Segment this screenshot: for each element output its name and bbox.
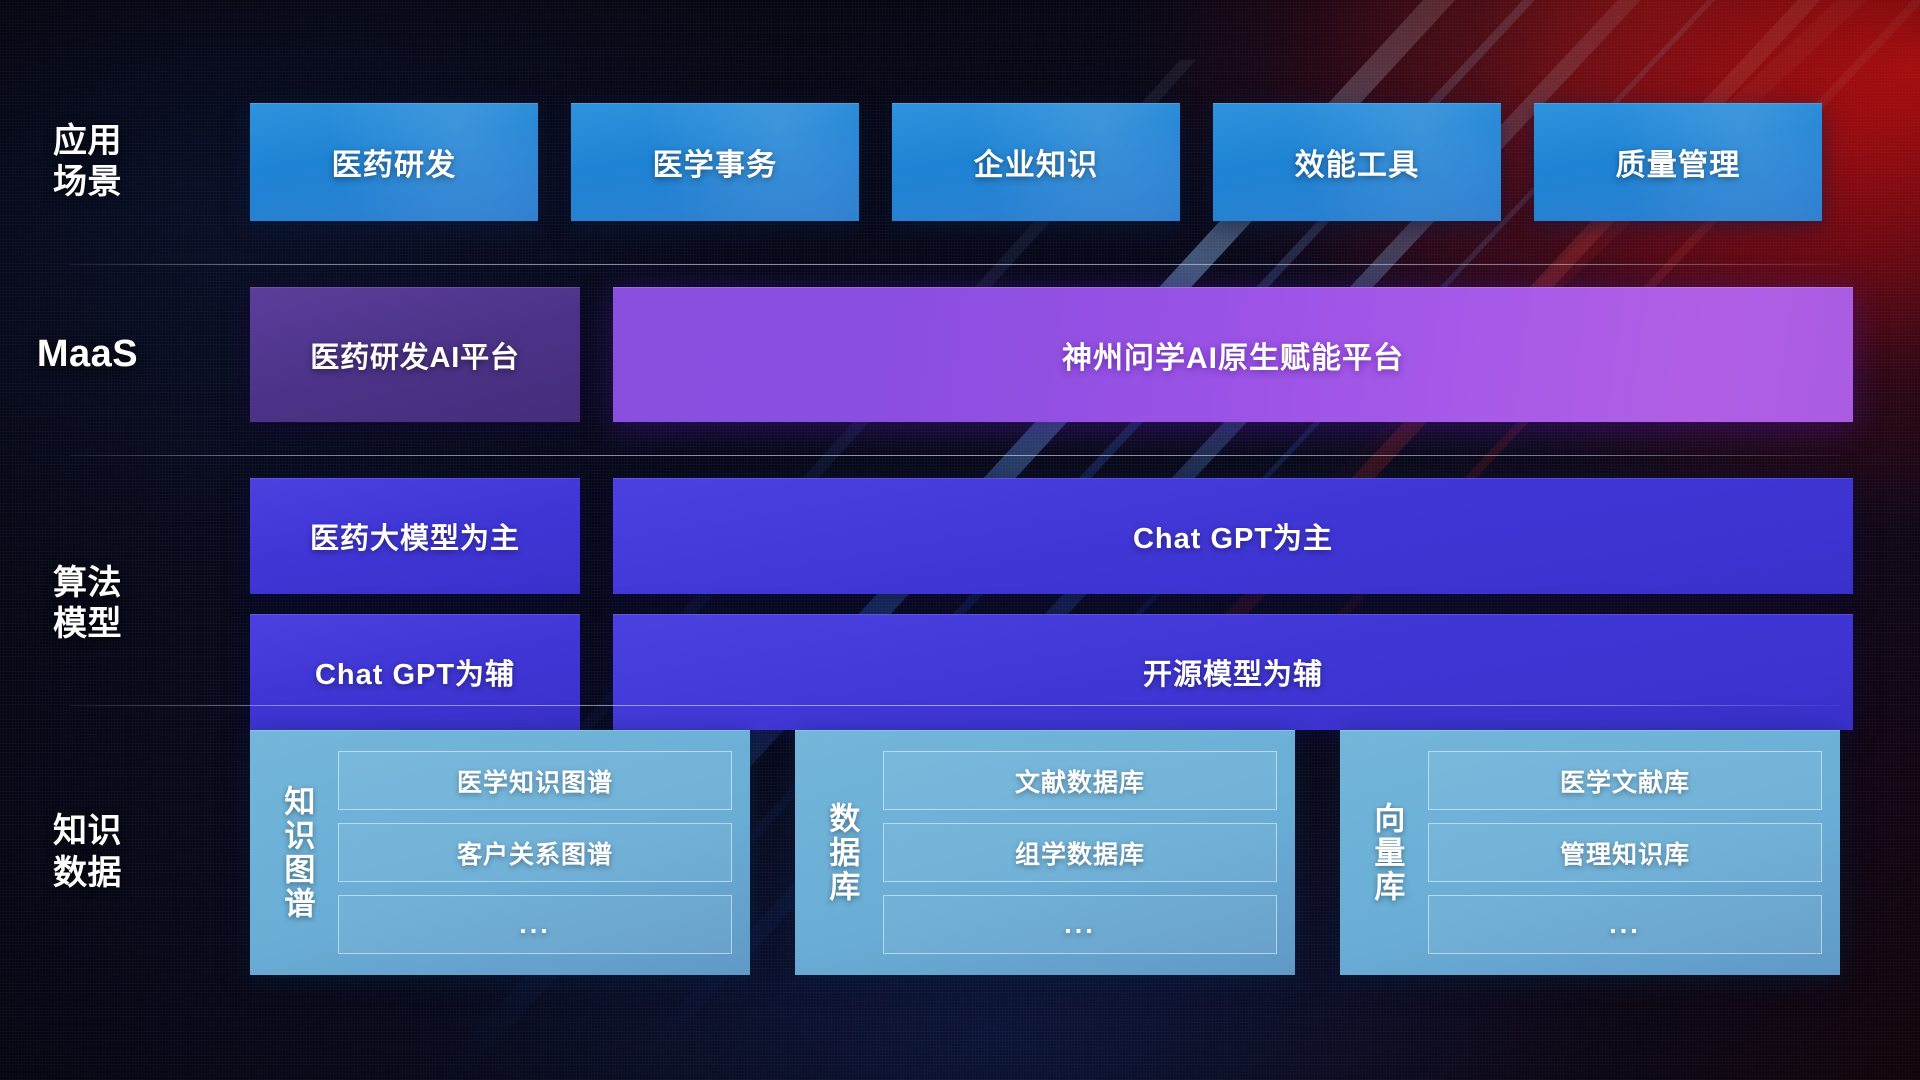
tier-label-algorithm-line2: 模型 [0,604,175,645]
knowledge-item-management-knowledge-label: 管理知识库 [1560,835,1690,871]
knowledge-panel-database: 数据库 文献数据库 组学数据库 ... [795,730,1295,975]
algo-card-opensource-secondary-label: 开源模型为辅 [1143,651,1323,693]
maas-card-drug-ai-platform-label: 医药研发AI平台 [310,334,519,376]
knowledge-item-customer-graph-label: 客户关系图谱 [457,835,613,871]
tier-label-knowledge-line1: 知识 [0,811,175,852]
app-card-medical-affairs-label: 医学事务 [653,140,778,184]
knowledge-item-literature-db[interactable]: 文献数据库 [883,751,1277,810]
divider-algorithm-knowledge [70,705,1840,706]
app-card-efficiency-tools[interactable]: 效能工具 [1213,103,1501,221]
app-card-medical-affairs[interactable]: 医学事务 [571,103,859,221]
algorithm-row-primary: 医药大模型为主 Chat GPT为主 [250,478,1853,594]
knowledge-panel-vector-label: 向量库 [1358,744,1414,961]
tier-maas-body: 医药研发AI平台 神州问学AI原生赋能平台 [175,287,1920,422]
tier-algorithm: 算法 模型 医药大模型为主 Chat GPT为主 Chat GPT为辅 开源模型… [0,478,1920,730]
maas-card-drug-ai-platform[interactable]: 医药研发AI平台 [250,287,580,422]
architecture-diagram: 应用 场景 医药研发 医学事务 企业知识 效能工具 质量管理 MaaS 医药研发… [0,0,1920,1080]
knowledge-item-medical-literature-label: 医学文献库 [1560,763,1690,799]
algo-card-opensource-secondary[interactable]: 开源模型为辅 [613,614,1853,730]
knowledge-item-database-more-label: ... [1064,909,1096,940]
divider-application-maas [70,264,1840,265]
app-card-quality-management-label: 质量管理 [1616,140,1741,184]
knowledge-item-medical-graph[interactable]: 医学知识图谱 [338,751,732,810]
knowledge-panel-list: 知识图谱 医学知识图谱 客户关系图谱 ... 数据库 文献数据库 组学数据库 .… [175,730,1840,975]
tier-label-application-line2: 场景 [0,162,175,203]
tier-label-application-line1: 应用 [0,121,175,162]
knowledge-panel-vector-items: 医学文献库 管理知识库 ... [1428,744,1822,961]
app-card-enterprise-knowledge[interactable]: 企业知识 [892,103,1180,221]
knowledge-panel-vector: 向量库 医学文献库 管理知识库 ... [1340,730,1840,975]
algo-card-chatgpt-primary[interactable]: Chat GPT为主 [613,478,1853,594]
tier-knowledge-body: 知识图谱 医学知识图谱 客户关系图谱 ... 数据库 文献数据库 组学数据库 .… [175,730,1920,975]
maas-banner-shenzhou-wenxue-label: 神州问学AI原生赋能平台 [1062,333,1404,377]
knowledge-item-omics-db-label: 组学数据库 [1015,835,1145,871]
knowledge-item-graph-more[interactable]: ... [338,895,732,954]
app-card-quality-management[interactable]: 质量管理 [1534,103,1822,221]
tier-label-knowledge-line2: 数据 [0,853,175,894]
algorithm-row-secondary: Chat GPT为辅 开源模型为辅 [250,614,1853,730]
tier-application: 应用 场景 医药研发 医学事务 企业知识 效能工具 质量管理 [0,96,1920,228]
tier-knowledge: 知识 数据 知识图谱 医学知识图谱 客户关系图谱 ... 数据库 文献数据库 [0,730,1920,975]
tier-application-body: 医药研发 医学事务 企业知识 效能工具 质量管理 [175,103,1920,221]
knowledge-item-database-more[interactable]: ... [883,895,1277,954]
algo-card-chatgpt-primary-label: Chat GPT为主 [1133,515,1333,557]
maas-card-list: 医药研发AI平台 神州问学AI原生赋能平台 [175,287,1853,422]
tier-algorithm-body: 医药大模型为主 Chat GPT为主 Chat GPT为辅 开源模型为辅 [175,478,1920,730]
application-card-list: 医药研发 医学事务 企业知识 效能工具 质量管理 [175,103,1822,221]
tier-maas: MaaS 医药研发AI平台 神州问学AI原生赋能平台 [0,287,1920,422]
knowledge-item-medical-graph-label: 医学知识图谱 [457,763,613,799]
tier-label-application: 应用 场景 [0,121,175,204]
algo-card-drug-llm-primary-label: 医药大模型为主 [310,515,520,557]
algo-card-chatgpt-secondary-label: Chat GPT为辅 [315,651,515,693]
knowledge-item-medical-literature[interactable]: 医学文献库 [1428,751,1822,810]
knowledge-item-literature-db-label: 文献数据库 [1015,763,1145,799]
knowledge-item-omics-db[interactable]: 组学数据库 [883,823,1277,882]
algorithm-grid: 医药大模型为主 Chat GPT为主 Chat GPT为辅 开源模型为辅 [175,478,1853,730]
knowledge-panel-graph-items: 医学知识图谱 客户关系图谱 ... [338,744,732,961]
tier-label-algorithm-line1: 算法 [0,563,175,604]
tier-label-knowledge: 知识 数据 [0,811,175,894]
app-card-drug-rnd-label: 医药研发 [332,140,457,184]
maas-banner-shenzhou-wenxue[interactable]: 神州问学AI原生赋能平台 [613,287,1853,422]
tier-label-maas: MaaS [0,331,175,377]
knowledge-panel-database-items: 文献数据库 组学数据库 ... [883,744,1277,961]
divider-maas-algorithm [70,455,1840,456]
knowledge-item-customer-graph[interactable]: 客户关系图谱 [338,823,732,882]
tier-label-algorithm: 算法 模型 [0,563,175,646]
knowledge-item-vector-more[interactable]: ... [1428,895,1822,954]
knowledge-item-management-knowledge[interactable]: 管理知识库 [1428,823,1822,882]
app-card-drug-rnd[interactable]: 医药研发 [250,103,538,221]
app-card-enterprise-knowledge-label: 企业知识 [974,140,1099,184]
knowledge-panel-graph: 知识图谱 医学知识图谱 客户关系图谱 ... [250,730,750,975]
knowledge-item-vector-more-label: ... [1609,909,1641,940]
knowledge-item-graph-more-label: ... [519,909,551,940]
app-card-efficiency-tools-label: 效能工具 [1295,140,1420,184]
algo-card-drug-llm-primary[interactable]: 医药大模型为主 [250,478,580,594]
knowledge-panel-graph-label: 知识图谱 [268,744,324,961]
knowledge-panel-database-label: 数据库 [813,744,869,961]
algo-card-chatgpt-secondary[interactable]: Chat GPT为辅 [250,614,580,730]
